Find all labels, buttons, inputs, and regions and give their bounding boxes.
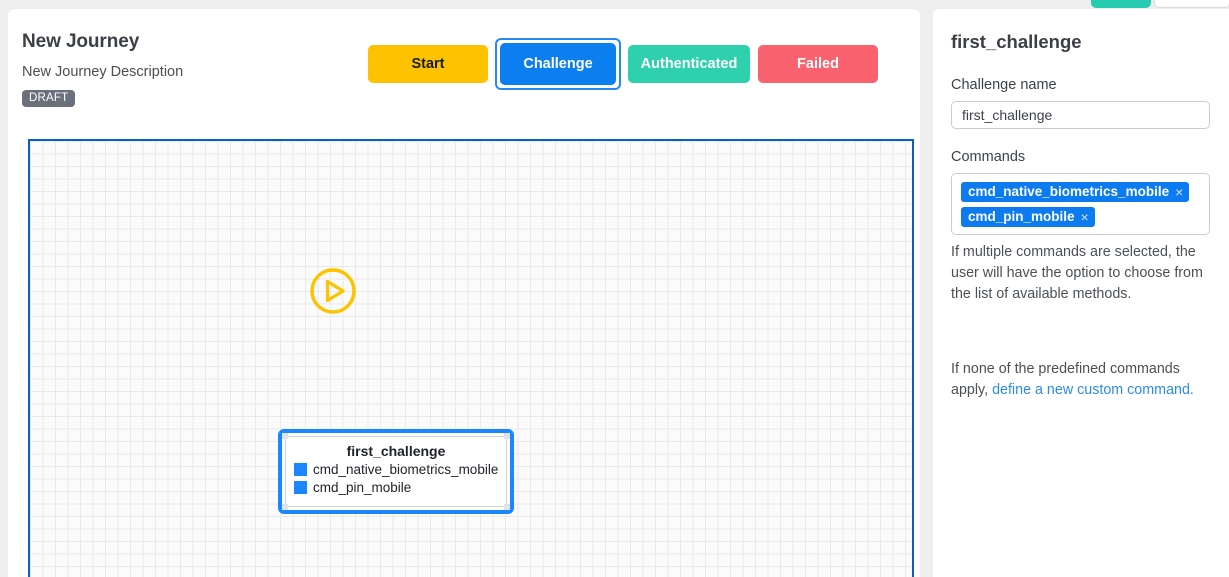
challenge-name-label: Challenge name: [951, 77, 1211, 93]
canvas-node-command-label: cmd_native_biometrics_mobile: [313, 462, 498, 477]
toolbar-secondary-button[interactable]: [1154, 0, 1229, 8]
remove-tag-icon[interactable]: ×: [1175, 185, 1183, 199]
toolbar-primary-button[interactable]: [1091, 0, 1151, 8]
resize-handle-top-right[interactable]: [504, 433, 510, 439]
state-button-start[interactable]: Start: [368, 45, 488, 83]
state-button-failed[interactable]: Failed: [758, 45, 878, 83]
command-tag-label: cmd_native_biometrics_mobile: [968, 184, 1169, 199]
journey-description: New Journey Description: [22, 64, 183, 80]
panel-title: first_challenge: [951, 31, 1211, 53]
top-toolbar-strip: [0, 0, 1229, 9]
canvas-node-command-label: cmd_pin_mobile: [313, 480, 411, 495]
app-root: New Journey New Journey Description DRAF…: [0, 0, 1229, 577]
status-badge: DRAFT: [22, 90, 75, 107]
canvas-node-command-row: cmd_pin_mobile: [294, 480, 498, 495]
journey-canvas[interactable]: first_challenge cmd_native_biometrics_mo…: [28, 139, 914, 577]
canvas-node-title: first_challenge: [294, 443, 498, 459]
commands-label: Commands: [951, 149, 1211, 165]
journey-editor-card: New Journey New Journey Description DRAF…: [8, 9, 920, 577]
properties-panel: first_challenge Challenge name Commands …: [933, 9, 1229, 577]
commands-tag-input[interactable]: cmd_native_biometrics_mobile × cmd_pin_m…: [951, 173, 1210, 235]
resize-handle-top-left[interactable]: [282, 433, 288, 439]
canvas-node-command-row: cmd_native_biometrics_mobile: [294, 462, 498, 477]
canvas-challenge-node-body: first_challenge cmd_native_biometrics_mo…: [285, 436, 507, 507]
resize-handle-bottom-left[interactable]: [282, 504, 288, 510]
define-custom-command-link[interactable]: define a new custom command.: [992, 382, 1194, 398]
page-title: New Journey: [22, 31, 139, 53]
play-circle-icon: [309, 267, 357, 315]
command-tag[interactable]: cmd_pin_mobile ×: [961, 207, 1095, 227]
command-color-swatch-icon: [294, 463, 307, 476]
canvas-challenge-node[interactable]: first_challenge cmd_native_biometrics_mo…: [278, 429, 514, 514]
resize-handle-bottom-right[interactable]: [504, 504, 510, 510]
command-tag-label: cmd_pin_mobile: [968, 209, 1075, 224]
command-color-swatch-icon: [294, 481, 307, 494]
challenge-name-input[interactable]: [951, 101, 1210, 129]
remove-tag-icon[interactable]: ×: [1081, 210, 1089, 224]
canvas-start-node[interactable]: [309, 267, 357, 315]
custom-command-helper: If none of the predefined commands apply…: [951, 359, 1210, 401]
commands-helper-text: If multiple commands are selected, the u…: [951, 242, 1210, 305]
state-button-challenge[interactable]: Challenge: [500, 43, 616, 85]
command-tag[interactable]: cmd_native_biometrics_mobile ×: [961, 182, 1189, 202]
state-button-challenge-selection-ring: Challenge: [495, 38, 621, 90]
state-button-authenticated[interactable]: Authenticated: [628, 45, 750, 83]
